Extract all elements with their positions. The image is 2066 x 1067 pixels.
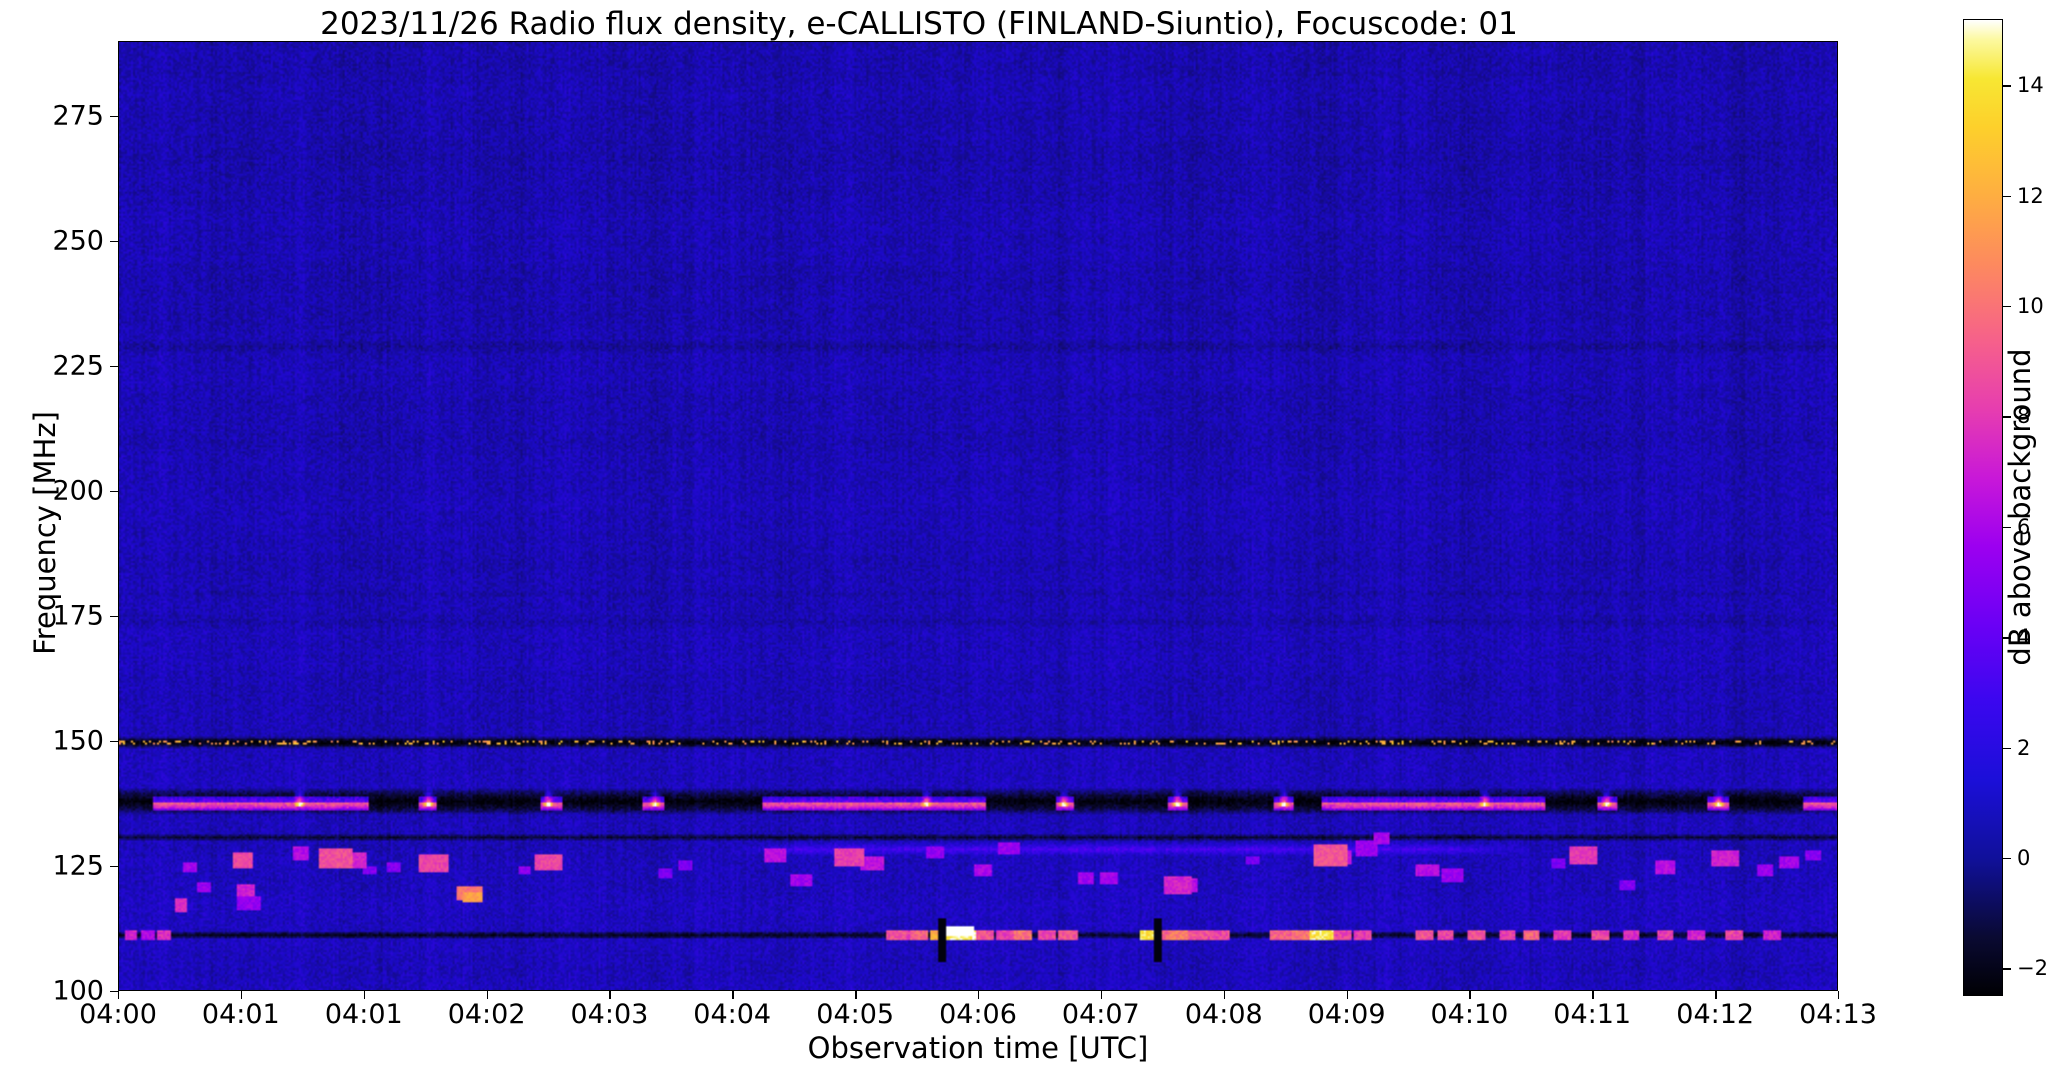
y-axis-label: Frequency [MHz] xyxy=(28,283,62,783)
x-tick-label: 04:01 xyxy=(202,999,280,1030)
x-tick-label: 04:07 xyxy=(1062,999,1140,1030)
x-tick-mark xyxy=(1101,991,1102,999)
x-tick-mark xyxy=(855,991,856,999)
x-tick-label: 04:10 xyxy=(1430,999,1508,1030)
colorbar-tick-mark xyxy=(2003,85,2011,86)
y-tick-mark xyxy=(110,241,118,242)
x-tick-label: 04:01 xyxy=(325,999,403,1030)
x-tick-label: 04:00 xyxy=(79,999,157,1030)
x-tick-mark xyxy=(1838,991,1839,999)
y-tick-mark xyxy=(110,741,118,742)
colorbar-tick-mark xyxy=(2003,858,2011,859)
colorbar-tick-label: 12 xyxy=(2017,184,2044,208)
colorbar-tick-mark xyxy=(2003,968,2011,969)
x-tick-mark xyxy=(978,991,979,999)
figure: 2023/11/26 Radio flux density, e-CALLIST… xyxy=(0,0,2066,1067)
y-tick-mark xyxy=(110,991,118,992)
x-tick-mark xyxy=(241,991,242,999)
spectrogram-image xyxy=(119,42,1837,990)
x-tick-label: 04:04 xyxy=(693,999,771,1030)
colorbar-label: dB above background xyxy=(2003,227,2037,787)
x-tick-mark xyxy=(487,991,488,999)
x-tick-mark xyxy=(732,991,733,999)
y-tick-label: 125 xyxy=(52,851,104,882)
x-tick-label: 04:09 xyxy=(1308,999,1386,1030)
colorbar-gradient xyxy=(1963,19,2003,996)
x-tick-label: 04:11 xyxy=(1553,999,1631,1030)
colorbar-tick-mark xyxy=(2003,196,2011,197)
x-tick-label: 04:06 xyxy=(939,999,1017,1030)
y-tick-mark xyxy=(110,491,118,492)
x-tick-label: 04:08 xyxy=(1185,999,1263,1030)
x-tick-mark xyxy=(118,991,119,999)
x-tick-mark xyxy=(1715,991,1716,999)
x-tick-label: 04:12 xyxy=(1676,999,1754,1030)
x-tick-mark xyxy=(1469,991,1470,999)
colorbar-tick-label: 0 xyxy=(2017,846,2030,870)
y-tick-label: 275 xyxy=(52,101,104,132)
x-tick-mark xyxy=(1224,991,1225,999)
y-tick-label: 250 xyxy=(52,226,104,257)
y-tick-mark xyxy=(110,866,118,867)
x-tick-mark xyxy=(1347,991,1348,999)
y-tick-mark xyxy=(110,116,118,117)
x-tick-label: 04:05 xyxy=(816,999,894,1030)
x-tick-mark xyxy=(364,991,365,999)
x-tick-mark xyxy=(609,991,610,999)
x-tick-label: 04:03 xyxy=(570,999,648,1030)
x-tick-label: 04:13 xyxy=(1799,999,1877,1030)
y-tick-mark xyxy=(110,616,118,617)
colorbar[interactable]: 14121086420−2 dB above background xyxy=(1963,19,2003,996)
x-tick-mark xyxy=(1592,991,1593,999)
chart-title: 2023/11/26 Radio flux density, e-CALLIST… xyxy=(0,6,1838,42)
colorbar-tick-label: −2 xyxy=(2017,956,2048,980)
spectrogram-axes[interactable] xyxy=(118,41,1838,991)
colorbar-tick-label: 14 xyxy=(2017,73,2044,97)
x-axis-label: Observation time [UTC] xyxy=(118,1031,1838,1065)
x-tick-label: 04:02 xyxy=(448,999,526,1030)
y-tick-mark xyxy=(110,366,118,367)
